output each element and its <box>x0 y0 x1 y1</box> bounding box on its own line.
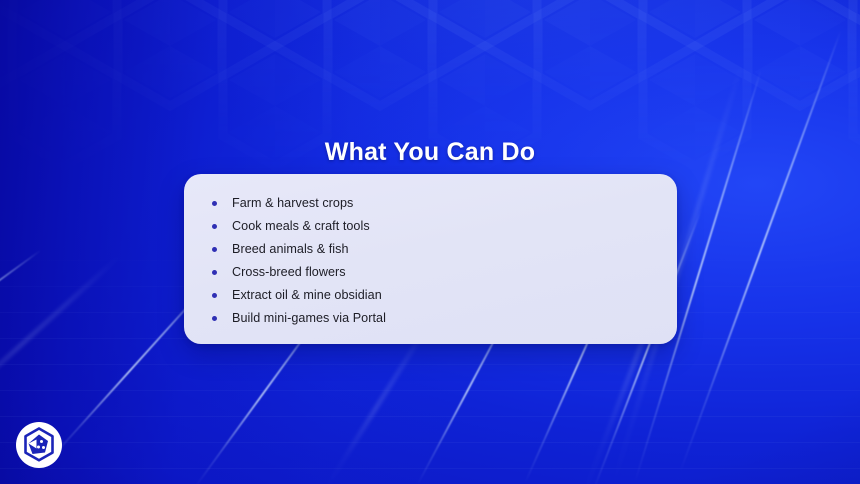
hexagon-diamond-logo-icon <box>15 421 63 469</box>
list-item: Build mini-games via Portal <box>212 307 659 330</box>
list-item: Cross-breed flowers <box>212 261 659 284</box>
capabilities-card: Farm & harvest crops Cook meals & craft … <box>184 174 677 344</box>
bullet-icon <box>212 247 217 252</box>
bullet-icon <box>212 201 217 206</box>
slide-canvas: What You Can Do Farm & harvest crops Coo… <box>0 0 860 484</box>
list-item-label: Breed animals & fish <box>232 238 349 261</box>
list-item-label: Farm & harvest crops <box>232 192 353 215</box>
list-item: Cook meals & craft tools <box>212 215 659 238</box>
bullet-icon <box>212 293 217 298</box>
list-item: Farm & harvest crops <box>212 192 659 215</box>
list-item-label: Cross-breed flowers <box>232 261 346 284</box>
list-item: Extract oil & mine obsidian <box>212 284 659 307</box>
list-item: Breed animals & fish <box>212 238 659 261</box>
list-item-label: Cook meals & craft tools <box>232 215 370 238</box>
list-item-label: Extract oil & mine obsidian <box>232 284 382 307</box>
list-item-label: Build mini-games via Portal <box>232 307 386 330</box>
bullet-icon <box>212 316 217 321</box>
page-title: What You Can Do <box>0 138 860 167</box>
bullet-icon <box>212 270 217 275</box>
bullet-icon <box>212 224 217 229</box>
capabilities-list: Farm & harvest crops Cook meals & craft … <box>212 192 659 330</box>
